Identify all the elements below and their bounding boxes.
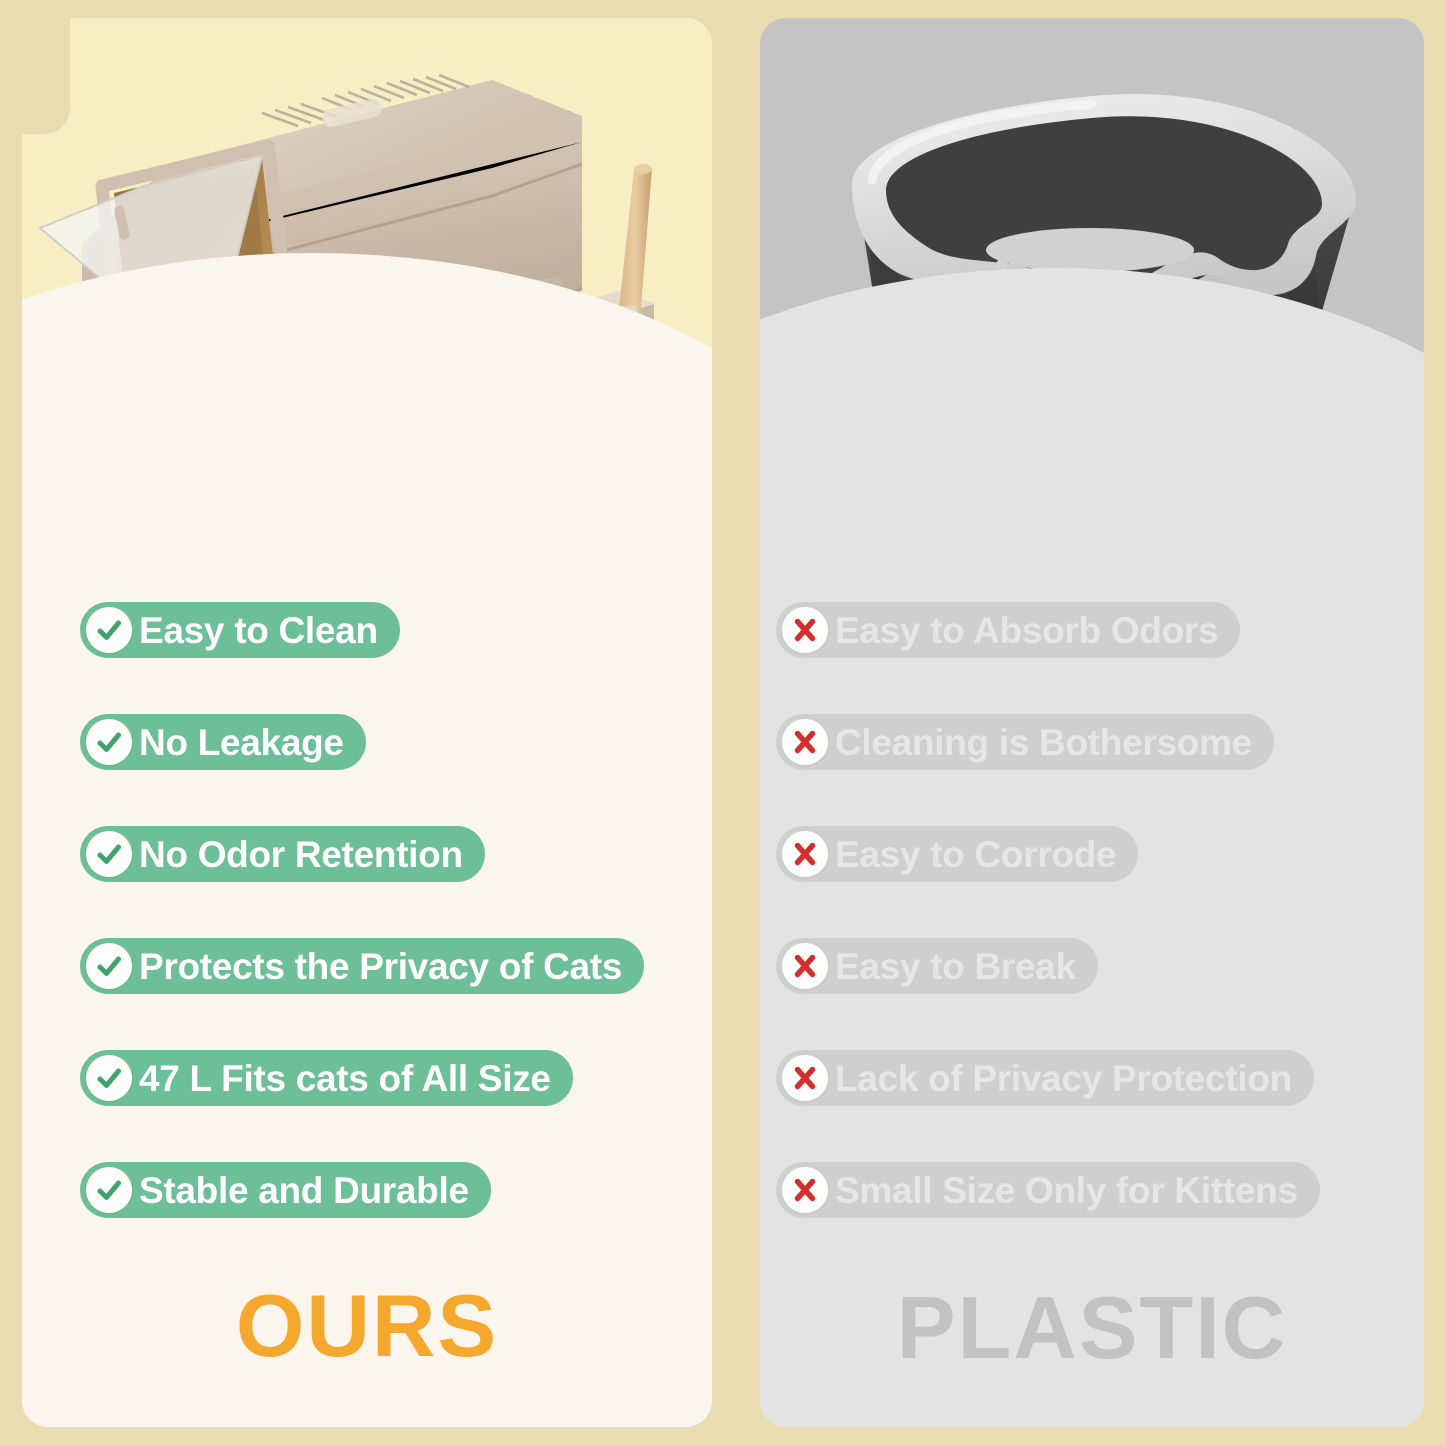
drawback-row: Cleaning is Bothersome [760,686,1424,798]
check-icon [86,719,132,765]
feature-label: 47 L Fits cats of All Size [139,1060,551,1097]
drawback-row: Lack of Privacy Protection [760,1022,1424,1134]
feature-label: No Leakage [139,724,344,761]
feature-label: Protects the Privacy of Cats [139,948,622,985]
check-icon [86,1167,132,1213]
plastic-heading: PLASTIC [760,1284,1424,1372]
feature-label: No Odor Retention [139,836,463,873]
ours-heading: OURS [22,1282,712,1370]
ours-feature-list: Easy to Clean No Leakage No Odor Retenti… [22,574,712,1246]
drawback-label: Small Size Only for Kittens [835,1172,1298,1209]
drawback-row: Easy to Corrode [760,798,1424,910]
feature-row: 47 L Fits cats of All Size [22,1022,712,1134]
feature-label: Stable and Durable [139,1172,469,1209]
cross-icon [782,1167,828,1213]
feature-pill-no-odor-retention[interactable]: No Odor Retention [80,826,485,882]
drawback-pill-easy-to-corrode[interactable]: Easy to Corrode [776,826,1138,882]
cross-icon [782,831,828,877]
drawback-pill-cleaning-bothersome[interactable]: Cleaning is Bothersome [776,714,1274,770]
feature-pill-protects-privacy[interactable]: Protects the Privacy of Cats [80,938,644,994]
check-icon [86,1055,132,1101]
check-icon [86,831,132,877]
plastic-panel: Easy to Absorb Odors Cleaning is Bothers… [760,18,1424,1427]
check-icon [86,943,132,989]
feature-row: No Odor Retention [22,798,712,910]
cross-icon [782,607,828,653]
drawback-pill-easy-to-break[interactable]: Easy to Break [776,938,1098,994]
drawback-label: Easy to Corrode [835,836,1116,873]
feature-row: Easy to Clean [22,574,712,686]
cross-icon [782,943,828,989]
feature-row: Stable and Durable [22,1134,712,1246]
check-icon [86,607,132,653]
cross-icon [782,719,828,765]
drawback-row: Easy to Absorb Odors [760,574,1424,686]
feature-row: No Leakage [22,686,712,798]
feature-label: Easy to Clean [139,612,378,649]
plastic-drawback-list: Easy to Absorb Odors Cleaning is Bothers… [760,574,1424,1246]
drawback-row: Small Size Only for Kittens [760,1134,1424,1246]
cross-icon [782,1055,828,1101]
comparison-infographic: Easy to Clean No Leakage No Odor Retenti… [0,0,1445,1445]
feature-pill-easy-to-clean[interactable]: Easy to Clean [80,602,400,658]
drawback-pill-absorbs-odors[interactable]: Easy to Absorb Odors [776,602,1240,658]
feature-pill-stable-durable[interactable]: Stable and Durable [80,1162,491,1218]
drawback-row: Easy to Break [760,910,1424,1022]
ours-product-photo [22,18,712,510]
ours-panel: Easy to Clean No Leakage No Odor Retenti… [22,18,712,1427]
plastic-product-photo [760,18,1424,510]
drawback-label: Easy to Break [835,948,1076,985]
feature-pill-capacity[interactable]: 47 L Fits cats of All Size [80,1050,573,1106]
drawback-label: Easy to Absorb Odors [835,612,1218,649]
feature-row: Protects the Privacy of Cats [22,910,712,1022]
drawback-label: Cleaning is Bothersome [835,724,1252,761]
drawback-pill-small-size[interactable]: Small Size Only for Kittens [776,1162,1320,1218]
feature-pill-no-leakage[interactable]: No Leakage [80,714,366,770]
drawback-pill-lack-privacy[interactable]: Lack of Privacy Protection [776,1050,1314,1106]
drawback-label: Lack of Privacy Protection [835,1060,1292,1097]
